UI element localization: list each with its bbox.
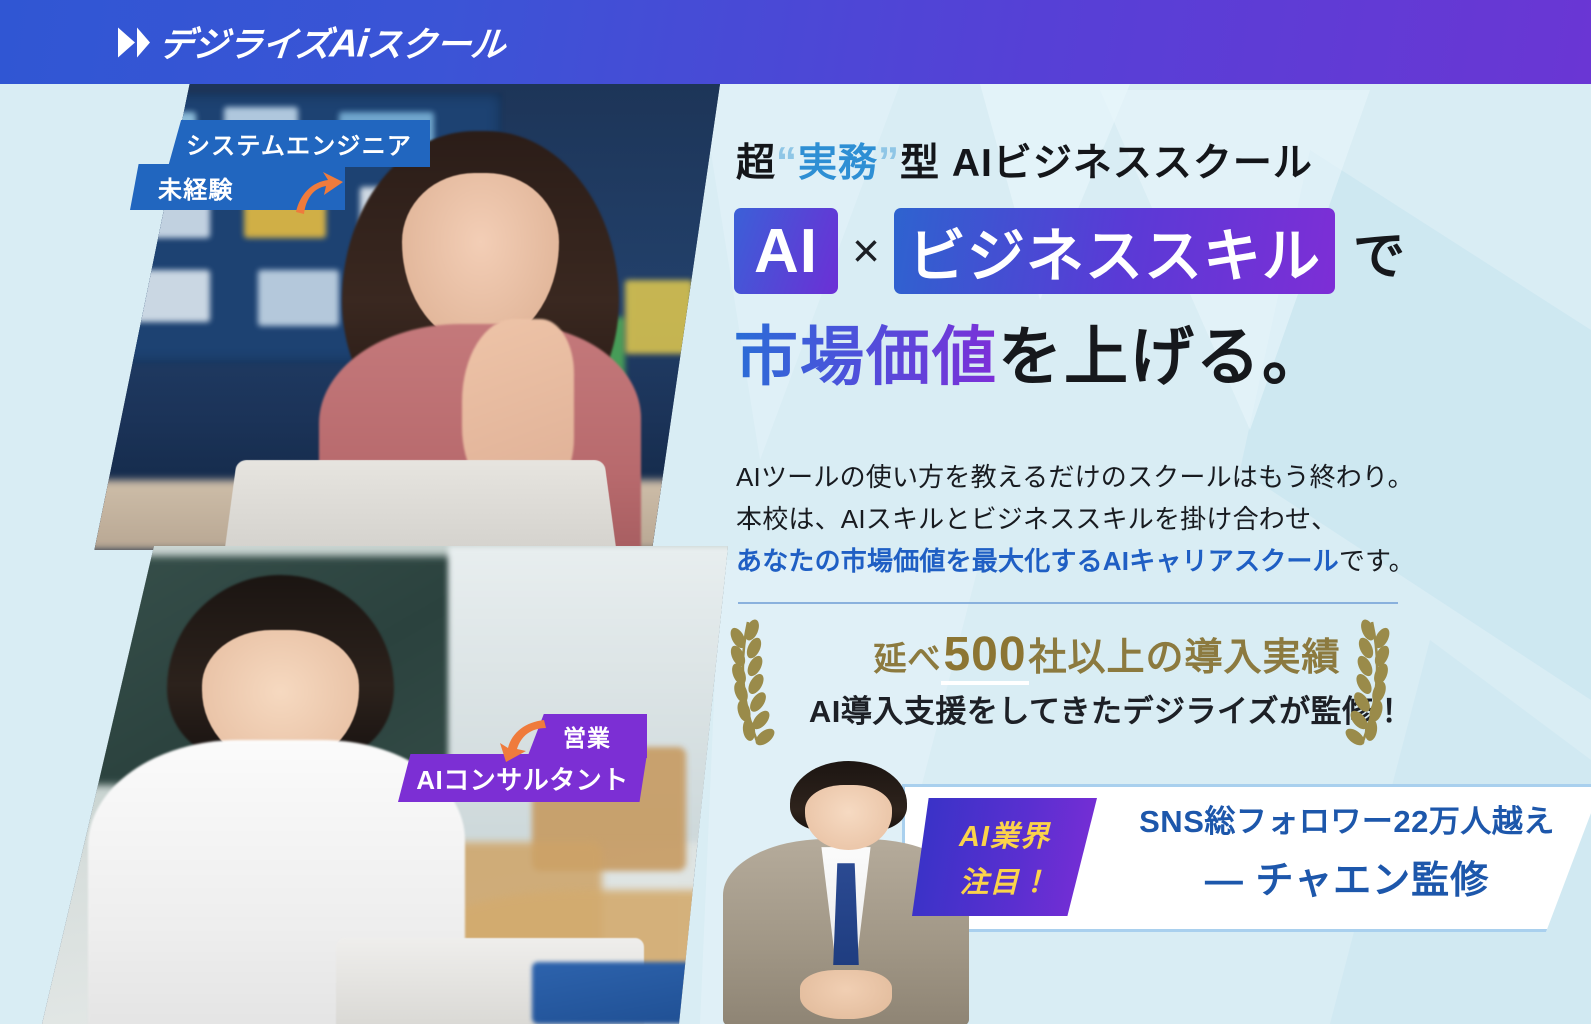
tagline-prefix: 超	[736, 142, 776, 185]
supervisor-flag-badge: AI業界 注目！	[912, 798, 1097, 916]
supervisor-followers: SNS総フォロワー22万人越え	[1112, 796, 1582, 841]
site-header: デジライズAiスクール	[0, 0, 1591, 84]
supervisor-flag-line1: AI業界	[959, 813, 1050, 855]
tagline-quote-close: ”	[878, 138, 900, 185]
double-chevron-play-icon	[118, 27, 150, 57]
headline-suffix-de: で	[1353, 214, 1405, 289]
logo-text: デジライズAiスクール	[156, 17, 508, 68]
hero-content: 超“実務”型 AIビジネススクール AI × ビジネススキル で 市場価値を上げ…	[712, 84, 1591, 1024]
hero-photo-column: システムエンジニア 未経験 営業 AIコンサルタント	[0, 84, 720, 1024]
badge-se-top: システムエンジニア	[168, 120, 430, 167]
lead-line-3-tail: です。	[1339, 546, 1415, 576]
multiply-icon: ×	[848, 224, 884, 279]
logo-text-school: スクール	[365, 26, 507, 65]
achievement-block: 延べ500社以上の導入実績 AI導入支援をしてきたデジライズが監修！	[712, 612, 1502, 752]
badge-ac-line2: AIコンサルタント	[416, 760, 629, 797]
supervisor-flag-line2: 注目！	[959, 859, 1049, 901]
hero-lead-paragraph: AIツールの使い方を教えるだけのスクールはもう終わり。 本校は、AIスキルとビジ…	[736, 456, 1476, 582]
tagline-suffix: 型 AIビジネススクール	[900, 142, 1313, 185]
supervisor-text: SNS総フォロワー22万人越え ― チャエン監修	[1112, 796, 1582, 904]
laurel-wreath-right-icon	[1342, 618, 1402, 748]
headline-market-value: 市場価値	[734, 321, 998, 393]
lead-line-3: あなたの市場価値を最大化するAIキャリアスクールです。	[736, 540, 1476, 582]
chip-ai: AI	[734, 208, 838, 294]
hero-headline-line2: 市場価値を上げる。	[734, 306, 1328, 398]
achievement-number: 500	[941, 628, 1028, 685]
logo-text-jp: デジライズ	[157, 26, 333, 65]
tagline-highlight: 実務	[798, 142, 878, 185]
achievement-suffix: 社以上の導入実績	[1029, 637, 1341, 679]
badge-ac-line1: 営業	[563, 719, 611, 753]
supervisor-block: AI業界 注目！ SNS総フォロワー22万人越え ― チャエン監修	[712, 752, 1591, 1024]
supervisor-name: ― チャエン監修	[1112, 849, 1582, 904]
lead-line-2: 本校は、AIスキルとビジネススキルを掛け合わせ、	[736, 498, 1476, 540]
badge-se-line2: 未経験	[158, 170, 234, 205]
lead-line-3-strong: あなたの市場価値を最大化するAIキャリアスクール	[736, 546, 1339, 576]
chip-business-skill: ビジネススキル	[894, 208, 1335, 294]
hero-tagline: 超“実務”型 AIビジネススクール	[736, 132, 1313, 188]
lead-line-1: AIツールの使い方を教えるだけのスクールはもう終わり。	[736, 456, 1476, 498]
tagline-quote-open: “	[776, 138, 798, 185]
badge-se-line1: システムエンジニア	[186, 126, 412, 161]
hero-headline-line1: AI × ビジネススキル で	[734, 208, 1405, 294]
achievement-prefix: 延べ	[873, 640, 941, 677]
curved-arrow-down-icon	[496, 716, 550, 762]
curved-arrow-up-icon	[290, 170, 346, 216]
badge-system-engineer: システムエンジニア 未経験	[130, 120, 430, 210]
headline-raise: を上げる。	[998, 321, 1328, 393]
brand-logo[interactable]: デジライズAiスクール	[118, 17, 505, 68]
lead-divider	[738, 602, 1398, 604]
landing-page-hero: デジライズAiスクール	[0, 0, 1591, 1024]
logo-text-ai: Ai	[328, 23, 370, 66]
badge-ai-consultant: 営業 AIコンサルタント	[392, 714, 647, 804]
